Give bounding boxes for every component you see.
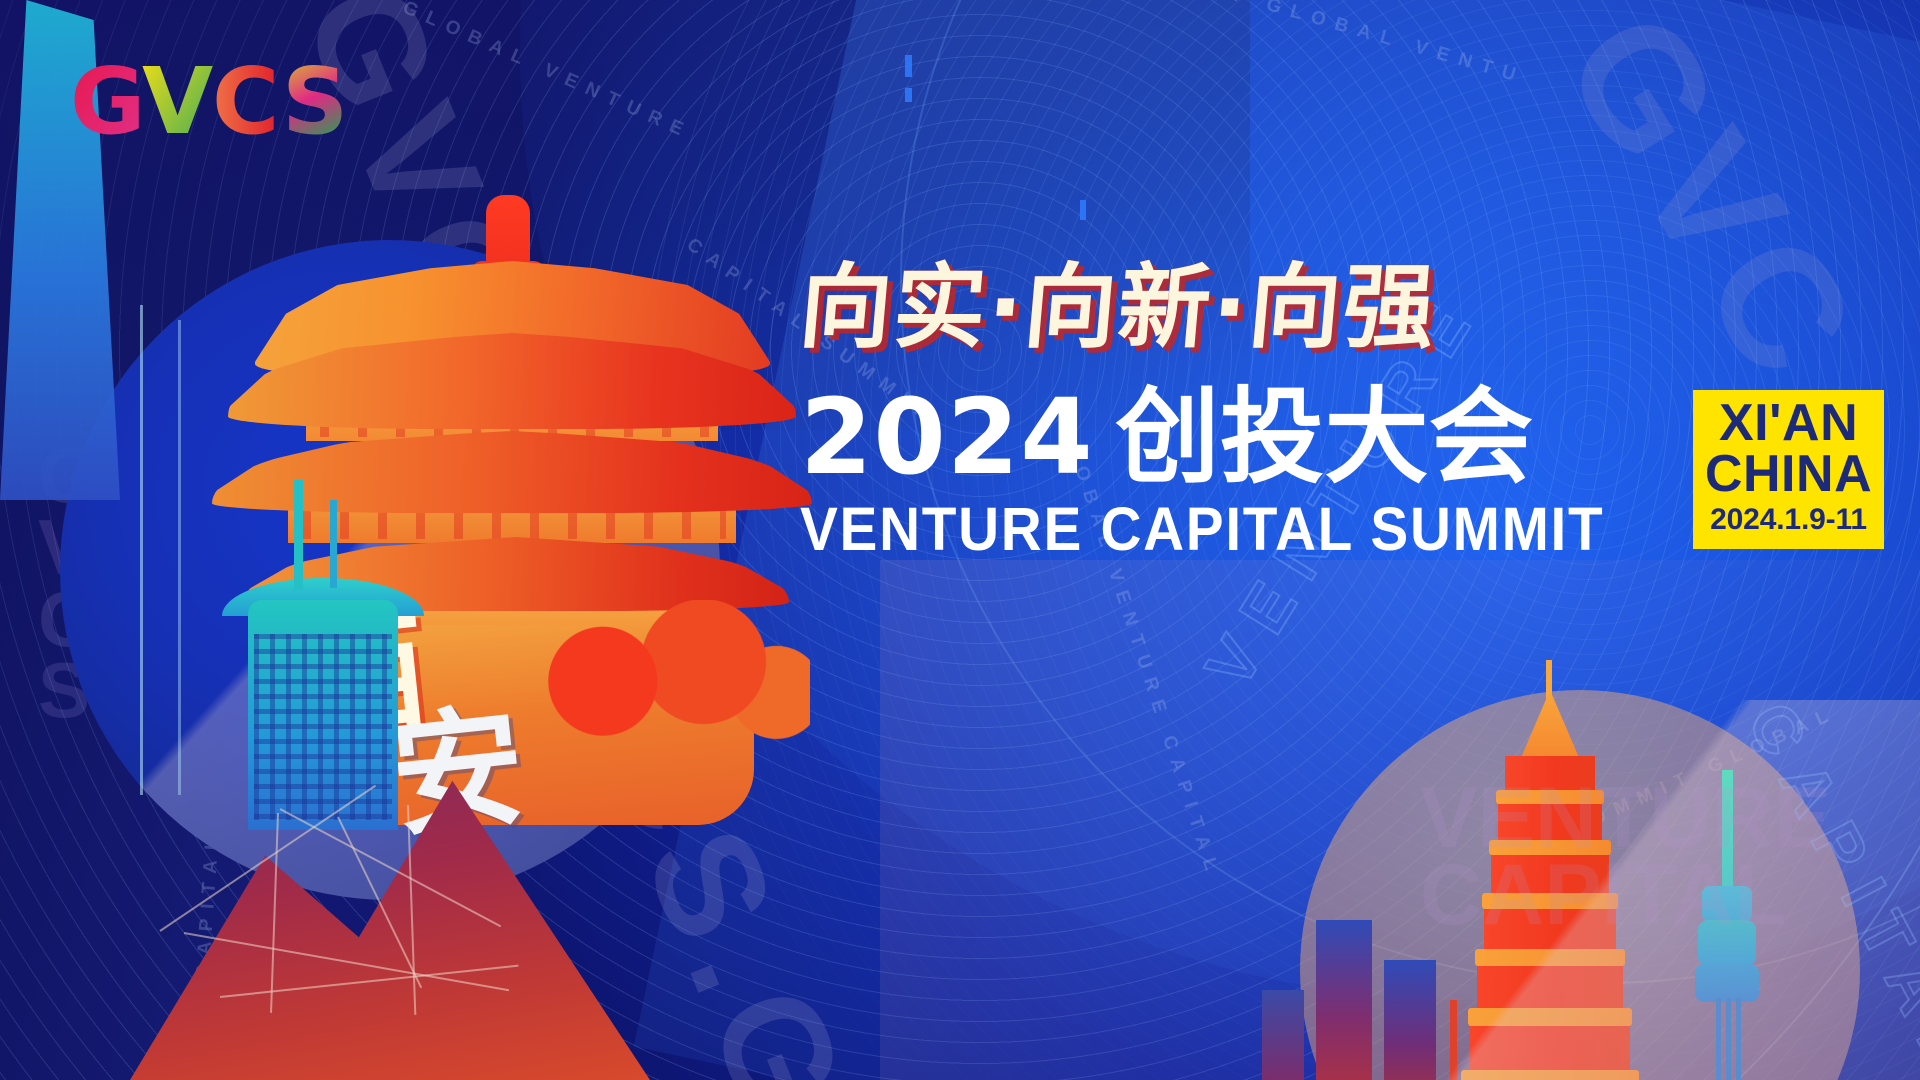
main-title: 2024创投大会 xyxy=(800,384,1665,490)
wireframe-structure xyxy=(160,760,580,1060)
title-year: 2024 xyxy=(800,376,1094,498)
watermark-ghost-venture: VENTURE xyxy=(1420,780,1831,857)
pixel-dot xyxy=(905,88,912,102)
watermark-ghost-capital: CAPITAL xyxy=(1420,857,1831,934)
building-spire xyxy=(294,480,303,590)
pixel-dot xyxy=(905,55,912,77)
slogan-calligraphy: 向实·向新·向强 xyxy=(796,262,1920,354)
title-text-group: 2024创投大会 VENTURE CAPITAL SUMMIT xyxy=(800,384,1665,564)
location-date-badge: XI'AN CHINA 2024.1.9-11 xyxy=(1693,390,1884,549)
gvcs-logo-svg: G V C S xyxy=(70,55,370,155)
building-spire xyxy=(330,500,337,588)
pixel-dot xyxy=(1080,200,1086,220)
badge-country: CHINA xyxy=(1705,449,1872,500)
poster-canvas: GVCS.GVCS.GVCS. GVC GLOBAL VENTURE SUMMI… xyxy=(0,0,1920,1080)
title-row: 2024创投大会 VENTURE CAPITAL SUMMIT XI'AN CH… xyxy=(800,384,1920,564)
logo-letter-v: V xyxy=(142,55,213,155)
building-edge-line xyxy=(178,320,181,795)
logo-letter-s: S xyxy=(282,55,348,155)
title-chinese: 创投大会 xyxy=(1116,376,1534,498)
building-edge-line xyxy=(140,305,143,795)
logo-letter-g: G xyxy=(70,55,146,155)
headline-block: 向实·向新·向强 2024创投大会 VENTURE CAPITAL SUMMIT… xyxy=(800,262,1920,564)
gvcs-logo[interactable]: G V C S xyxy=(70,55,370,145)
watermark-ghost-right: VENTURE CAPITAL xyxy=(1420,780,1831,935)
logo-letter-c: C xyxy=(212,55,280,155)
badge-dates: 2024.1.9-11 xyxy=(1705,502,1872,539)
subtitle-english: VENTURE CAPITAL SUMMIT xyxy=(800,494,1604,564)
badge-city: XI'AN xyxy=(1705,398,1872,449)
